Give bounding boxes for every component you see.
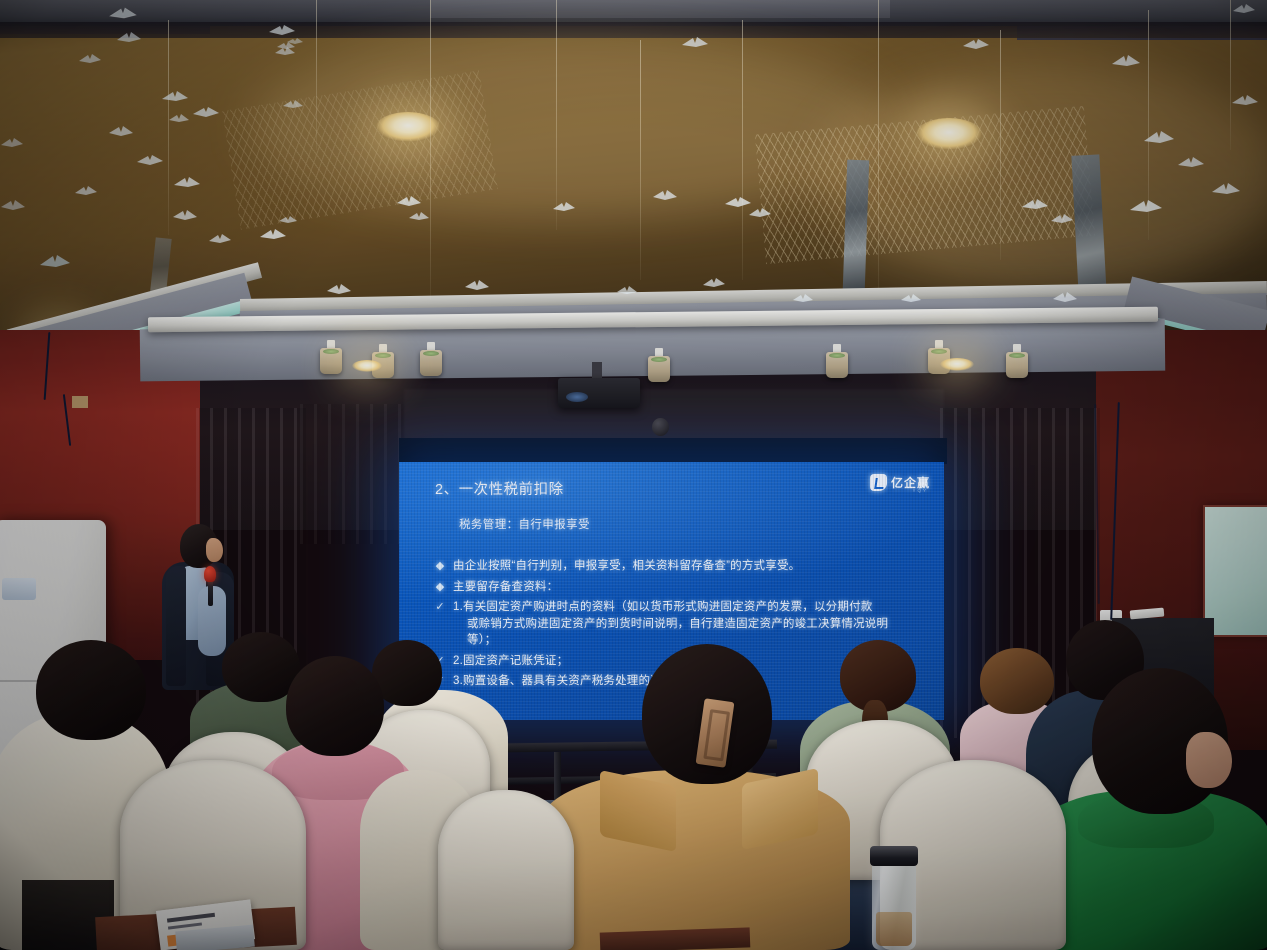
- slide-bullet-row: ✓ 1.有关固定资产购进时点的资料（如以货币形式购进固定资产的发票，以分期付款 …: [427, 599, 927, 649]
- seminar-room-photo: 2、一次性税前扣除 税务管理：自行申报享受 ◆ 由企业按照“自行判别，申报享受，…: [0, 0, 1267, 950]
- microphone-handle: [208, 580, 213, 606]
- bullet-text-cont: 或赊销方式购进固定资产的到货时间说明，自行建造固定资产的竣工决算情况说明: [453, 616, 888, 633]
- attendee-face: [1186, 732, 1232, 788]
- led-wall-ceiling-reflection: [404, 390, 944, 442]
- logo-tagline: YQY: [912, 488, 928, 493]
- chair-covered: [438, 790, 574, 950]
- bullet-diamond-icon: ◆: [427, 579, 453, 595]
- track-spotlight: [826, 344, 848, 378]
- slide-bullet-row: ◆ 由企业按照“自行判别，申报享受，相关资料留存备查”的方式享受。: [427, 558, 927, 575]
- track-spotlight: [1006, 344, 1028, 378]
- hanging-wire: [316, 0, 317, 150]
- attendee-head: [980, 648, 1054, 714]
- hanging-wire: [430, 0, 431, 300]
- ceiling-speaker: [652, 418, 669, 436]
- logo-mark-icon: [870, 474, 887, 491]
- bullet-check-icon: ✓: [427, 599, 453, 615]
- presenter-vest-left: [166, 566, 186, 686]
- bottle-lid[interactable]: [870, 846, 918, 866]
- track-spotlight: [420, 342, 442, 376]
- presenter-face: [206, 538, 223, 562]
- slide-bullet-row: ◆ 主要留存备查资料：: [427, 579, 927, 596]
- ceiling-soffit-inner: [430, 0, 890, 18]
- bullet-text-cont2: 等）；: [453, 632, 888, 649]
- bottle-contents: [876, 912, 912, 946]
- hanging-wire: [1148, 10, 1149, 240]
- screen-top-bezel-shadow: [399, 438, 947, 464]
- attendee-head: [36, 640, 146, 740]
- recessed-light-2: [916, 118, 982, 150]
- air-conditioner-display: [2, 578, 36, 600]
- attendee-head: [286, 656, 384, 756]
- track-spotlight: [320, 340, 342, 374]
- bullet-text: 主要留存备查资料：: [453, 579, 558, 596]
- microphone-icon: [204, 566, 216, 582]
- blue-curtain-left-upper: [300, 404, 404, 544]
- hanging-wire: [556, 0, 557, 230]
- bullet-text-group: 1.有关固定资产购进时点的资料（如以货币形式购进固定资产的发票，以分期付款 或赊…: [453, 599, 888, 649]
- spotlight-flare: [352, 360, 382, 372]
- hanging-wire: [168, 20, 169, 235]
- bullet-text: 由企业按照“自行判别，申报享受，相关资料留存备查”的方式享受。: [453, 558, 800, 575]
- bullet-diamond-icon: ◆: [427, 558, 453, 574]
- track-spotlight: [648, 348, 670, 382]
- spotlight-flare: [940, 358, 974, 371]
- wall-outlet: [72, 396, 88, 408]
- slide-title: 2、一次性税前扣除: [435, 478, 564, 499]
- mirror-strip-1: [843, 160, 870, 291]
- bullet-text: 1.有关固定资产购进时点的资料（如以货币形式购进固定资产的发票，以分期付款: [453, 601, 873, 613]
- hanging-wire: [742, 20, 743, 280]
- projector-lens-icon: [566, 392, 588, 402]
- slide-subtitle: 税务管理：自行申报享受: [459, 516, 590, 532]
- bullet-text: 2.固定资产记账凭证；: [453, 653, 568, 670]
- hanging-wire: [640, 40, 641, 280]
- ceiling-shadow-strip: [0, 22, 1267, 38]
- hanging-wire: [878, 0, 879, 290]
- hanging-wire: [1230, 0, 1231, 150]
- hanging-wire: [1000, 30, 1001, 260]
